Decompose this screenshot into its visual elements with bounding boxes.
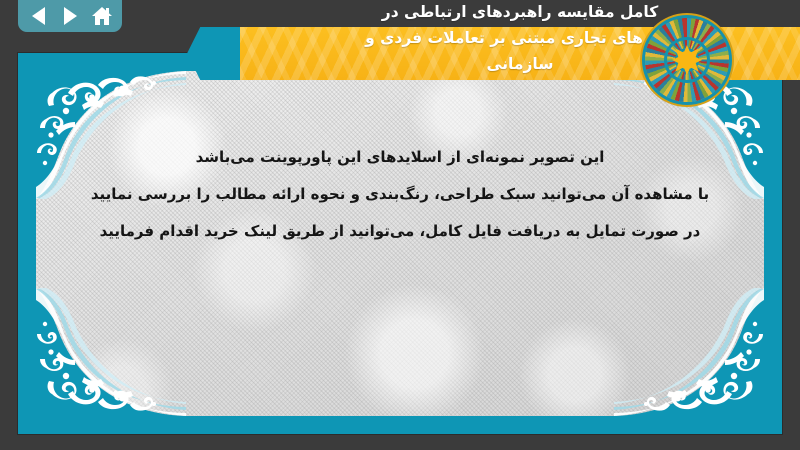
slide-body-text: این تصویر نمونه‌ای از اسلایدهای این پاور… <box>36 139 764 250</box>
forward-button[interactable] <box>57 4 83 28</box>
back-icon <box>32 7 45 25</box>
body-line: این تصویر نمونه‌ای از اسلایدهای این پاور… <box>70 139 730 176</box>
home-button[interactable] <box>89 4 115 28</box>
arabesque-corner-ornament-icon <box>36 288 186 416</box>
body-line: با مشاهده آن می‌توانید سبک طراحی، رنگ‌بن… <box>70 176 730 213</box>
forward-icon <box>64 7 77 25</box>
arabesque-corner-ornament-icon <box>614 288 764 416</box>
back-button[interactable] <box>25 4 51 28</box>
home-icon <box>92 7 112 25</box>
navigation-bar <box>18 0 122 32</box>
body-line: در صورت تمایل به دریافت فایل کامل، می‌تو… <box>70 213 730 250</box>
slide-content-area: این تصویر نمونه‌ای از اسلایدهای این پاور… <box>36 71 764 416</box>
slide-frame: این تصویر نمونه‌ای از اسلایدهای این پاور… <box>18 53 782 434</box>
